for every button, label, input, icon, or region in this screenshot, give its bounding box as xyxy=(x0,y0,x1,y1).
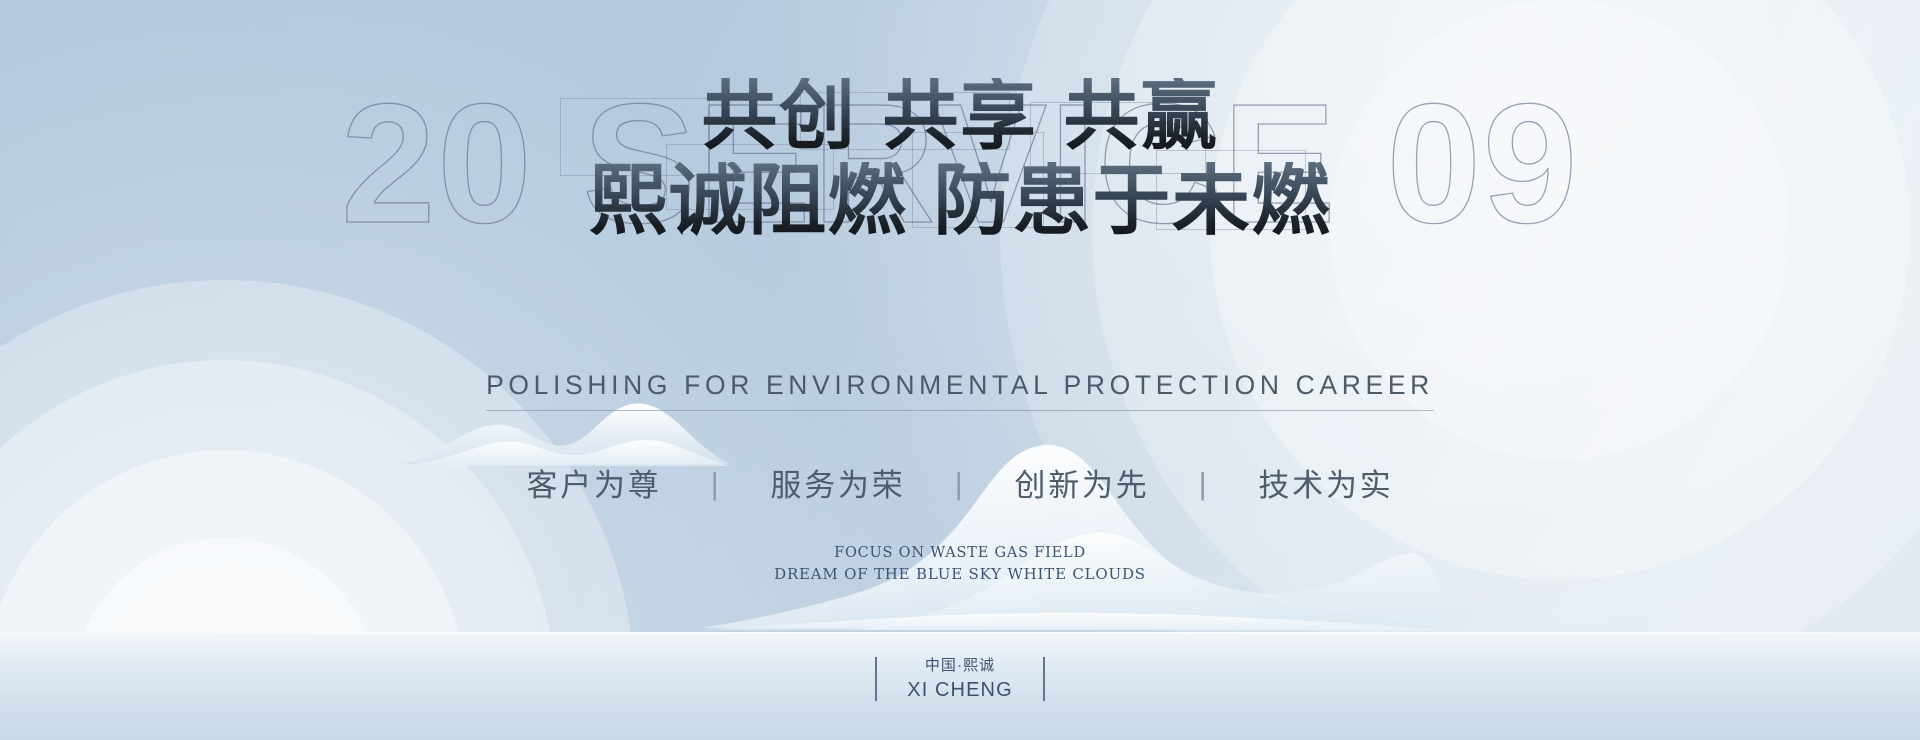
subline-block: POLISHING FOR ENVIRONMENTAL PROTECTION C… xyxy=(0,370,1920,411)
value-item-1: 客户为尊 xyxy=(526,460,661,505)
value-item-2: 服务为荣 xyxy=(770,460,905,505)
headline-line-1: 共创共享共赢 xyxy=(0,78,1920,154)
headline-block: 共创共享共赢 熙诚阻燃防患于未燃 xyxy=(0,78,1920,240)
logo-rule-right xyxy=(1043,657,1045,701)
micro-tagline-block: FOCUS ON WASTE GAS FIELD DREAM OF THE BL… xyxy=(0,543,1920,585)
value-separator-1: | xyxy=(673,466,759,502)
subline-text: POLISHING FOR ENVIRONMENTAL PROTECTION C… xyxy=(486,370,1434,411)
logo-rule-left xyxy=(875,657,877,701)
micro-tagline-line-2: DREAM OF THE BLUE SKY WHITE CLOUDS xyxy=(0,564,1920,585)
micro-tagline-line-1: FOCUS ON WASTE GAS FIELD xyxy=(0,543,1920,564)
headline-line-2: 熙诚阻燃防患于未燃 xyxy=(0,162,1920,240)
logo-text-stack: 中国·熙诚 XI CHENG xyxy=(877,655,1042,703)
values-row: 客户为尊 | 服务为荣 | 创新为先 | 技术为实 xyxy=(0,460,1920,505)
logo-english-name: XI CHENG xyxy=(907,677,1012,703)
promo-banner: 20 SERVICE 09 xyxy=(0,0,1920,740)
value-separator-2: | xyxy=(917,466,1003,502)
floor-edge-line xyxy=(0,632,1920,634)
logo-chinese-name: 中国·熙诚 xyxy=(907,655,1012,677)
value-item-4: 技术为实 xyxy=(1258,460,1393,505)
logo-lockup: 中国·熙诚 XI CHENG xyxy=(0,655,1920,703)
value-separator-3: | xyxy=(1161,466,1247,502)
value-item-3: 创新为先 xyxy=(1014,460,1149,505)
